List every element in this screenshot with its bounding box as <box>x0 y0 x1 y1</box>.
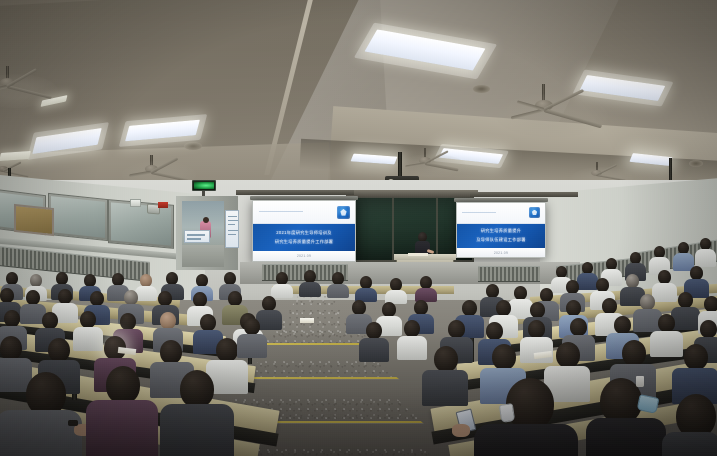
audience-head <box>678 292 693 308</box>
audience-head <box>80 311 96 328</box>
ceiling-fan-1 <box>0 66 62 106</box>
audience-head <box>448 320 465 338</box>
audience-head <box>48 338 70 362</box>
audience-head <box>570 318 587 336</box>
audience-torso <box>73 327 103 351</box>
audience-torso <box>577 273 598 290</box>
wall-notice-small <box>130 199 141 207</box>
audience-head <box>704 296 717 312</box>
audience-head <box>514 286 527 300</box>
audience-head <box>540 288 553 302</box>
audience-head <box>658 314 675 332</box>
board-track-left <box>236 190 354 195</box>
audience-head <box>404 320 420 337</box>
left-slide-body: 2021年度研究生导师培训及 研究生培养质量提升工作部署 <box>253 224 355 252</box>
audience-torso <box>520 337 553 363</box>
audience-head <box>566 280 579 294</box>
audience-head <box>658 270 671 284</box>
aisle-step-2 <box>238 360 400 380</box>
audience-head <box>602 298 617 314</box>
audience-torso <box>652 283 677 302</box>
ceiling-vent-2 <box>473 85 490 93</box>
ceiling <box>0 0 717 205</box>
audience-torso <box>397 336 427 360</box>
audience-head <box>596 278 609 292</box>
audience-torso-foreground-left2 <box>86 400 158 456</box>
audience-head <box>42 312 58 329</box>
audience-torso <box>359 338 389 362</box>
audience-torso-foreground-left3 <box>160 404 234 456</box>
audience-head <box>486 322 503 340</box>
audience-torso <box>327 284 349 298</box>
audience-torso <box>671 307 700 330</box>
left-bulletin-board <box>14 204 54 236</box>
audience-head <box>566 300 581 316</box>
left-slide-footer-text: 2021.09 <box>297 254 311 258</box>
right-slide: 研究生培养质量提升 及导师队伍建设工作部署 2021.09 <box>457 203 545 257</box>
audience-head <box>492 344 516 370</box>
left-slide: 2021年度研究生导师培训及 研究生培养质量提升工作部署 2021.09 <box>253 201 355 261</box>
audience-head <box>640 294 655 310</box>
audience-head <box>160 312 176 329</box>
audience-head <box>462 300 477 316</box>
audience-head <box>26 290 40 305</box>
right-slide-footer-text: 2021.09 <box>494 251 508 255</box>
audience-head <box>530 302 545 318</box>
right-slide-header <box>457 203 545 224</box>
audience-head-foreground-left3 <box>180 370 214 408</box>
audience-torso <box>271 284 293 298</box>
audience-head <box>160 340 182 364</box>
right-slide-body: 研究生培养质量提升 及导师队伍建设工作部署 <box>457 224 545 249</box>
audience-torso <box>299 282 321 297</box>
exit-sign <box>192 180 216 191</box>
audience-torso <box>237 334 267 358</box>
audience-head-foreground-phone-user <box>506 378 554 430</box>
audience-head <box>158 291 172 306</box>
audience-head <box>486 284 499 298</box>
wristwatch <box>68 420 78 426</box>
audience-hand-holding-phone <box>452 424 470 437</box>
audience-head <box>684 344 708 370</box>
left-slide-footer: 2021.09 <box>253 251 355 261</box>
corridor-floor <box>182 245 224 267</box>
front-radiator-right <box>478 266 540 282</box>
institution-badge-logo-right <box>529 207 540 218</box>
audience-head <box>690 266 703 280</box>
paper-cup-right <box>636 376 644 387</box>
audience-torso <box>135 286 157 301</box>
audience-head-foreground-left2 <box>106 366 140 404</box>
audience-head <box>262 296 276 311</box>
audience-torso <box>650 331 683 357</box>
left-slide-header <box>253 201 355 224</box>
audience-head <box>200 314 216 331</box>
board-track-right <box>470 192 578 197</box>
corridor-person-head <box>203 217 209 223</box>
audience-head <box>244 318 260 335</box>
audience-head <box>700 320 717 338</box>
audience-head <box>90 291 104 306</box>
audience-head <box>382 302 396 317</box>
audience-torso-foreground-far-right <box>662 432 717 456</box>
left-slide-title-line-1: 2021年度研究生导师培训及 <box>276 230 331 236</box>
audience-head <box>0 288 14 303</box>
podium-paper <box>408 253 428 256</box>
audience-head <box>434 346 458 372</box>
audience-head <box>556 342 580 368</box>
audience-head <box>414 300 428 315</box>
left-projection-screen: 2021年度研究生导师培训及 研究生培养质量提升工作部署 2021.09 <box>252 200 356 262</box>
audience-torso-foreground-left <box>0 410 82 456</box>
audience-head <box>124 290 138 305</box>
audience-head <box>193 292 207 307</box>
handout-paper-3 <box>300 318 314 323</box>
audience-head <box>622 340 646 366</box>
ceiling-vent-1 <box>184 142 202 150</box>
audience-torso <box>422 370 468 406</box>
lecture-hall-photo: 2021年度研究生导师培训及 研究生培养质量提升工作部署 2021.09 研究生… <box>0 0 717 456</box>
left-slide-title-line-2: 研究生培养质量提升工作部署 <box>275 239 333 245</box>
fire-safety-sign <box>158 202 168 208</box>
audience-head <box>614 316 631 334</box>
audience-head <box>120 313 136 330</box>
audience-head <box>352 300 366 315</box>
audience-head <box>4 310 20 327</box>
audience-head <box>228 291 242 306</box>
audience-head <box>626 274 639 288</box>
right-slide-title-line-2: 及导师队伍建设工作部署 <box>476 237 525 243</box>
audience-head <box>496 300 511 316</box>
ceiling-fan-3 <box>520 84 610 134</box>
left-window-2 <box>48 193 108 241</box>
audience-head <box>528 320 545 338</box>
face-mask-white <box>499 403 515 423</box>
audience-head <box>58 289 72 304</box>
right-slide-footer: 2021.09 <box>457 248 545 257</box>
audience-torso-foreground-phone-user <box>474 424 578 456</box>
audience-head <box>216 338 238 362</box>
audience-torso <box>695 249 716 267</box>
door-notice-poster <box>225 210 239 248</box>
right-projection-screen: 研究生培养质量提升 及导师队伍建设工作部署 2021.09 <box>456 202 546 258</box>
chalkboard-top-rail <box>346 190 478 197</box>
audience-head <box>366 322 382 339</box>
audience-head <box>0 336 22 360</box>
audience-torso-foreground-right <box>586 418 666 456</box>
doorway-lower-sign <box>184 230 210 243</box>
institution-badge-logo <box>337 206 350 219</box>
right-slide-title-line-1: 研究生培养质量提升 <box>481 228 521 234</box>
